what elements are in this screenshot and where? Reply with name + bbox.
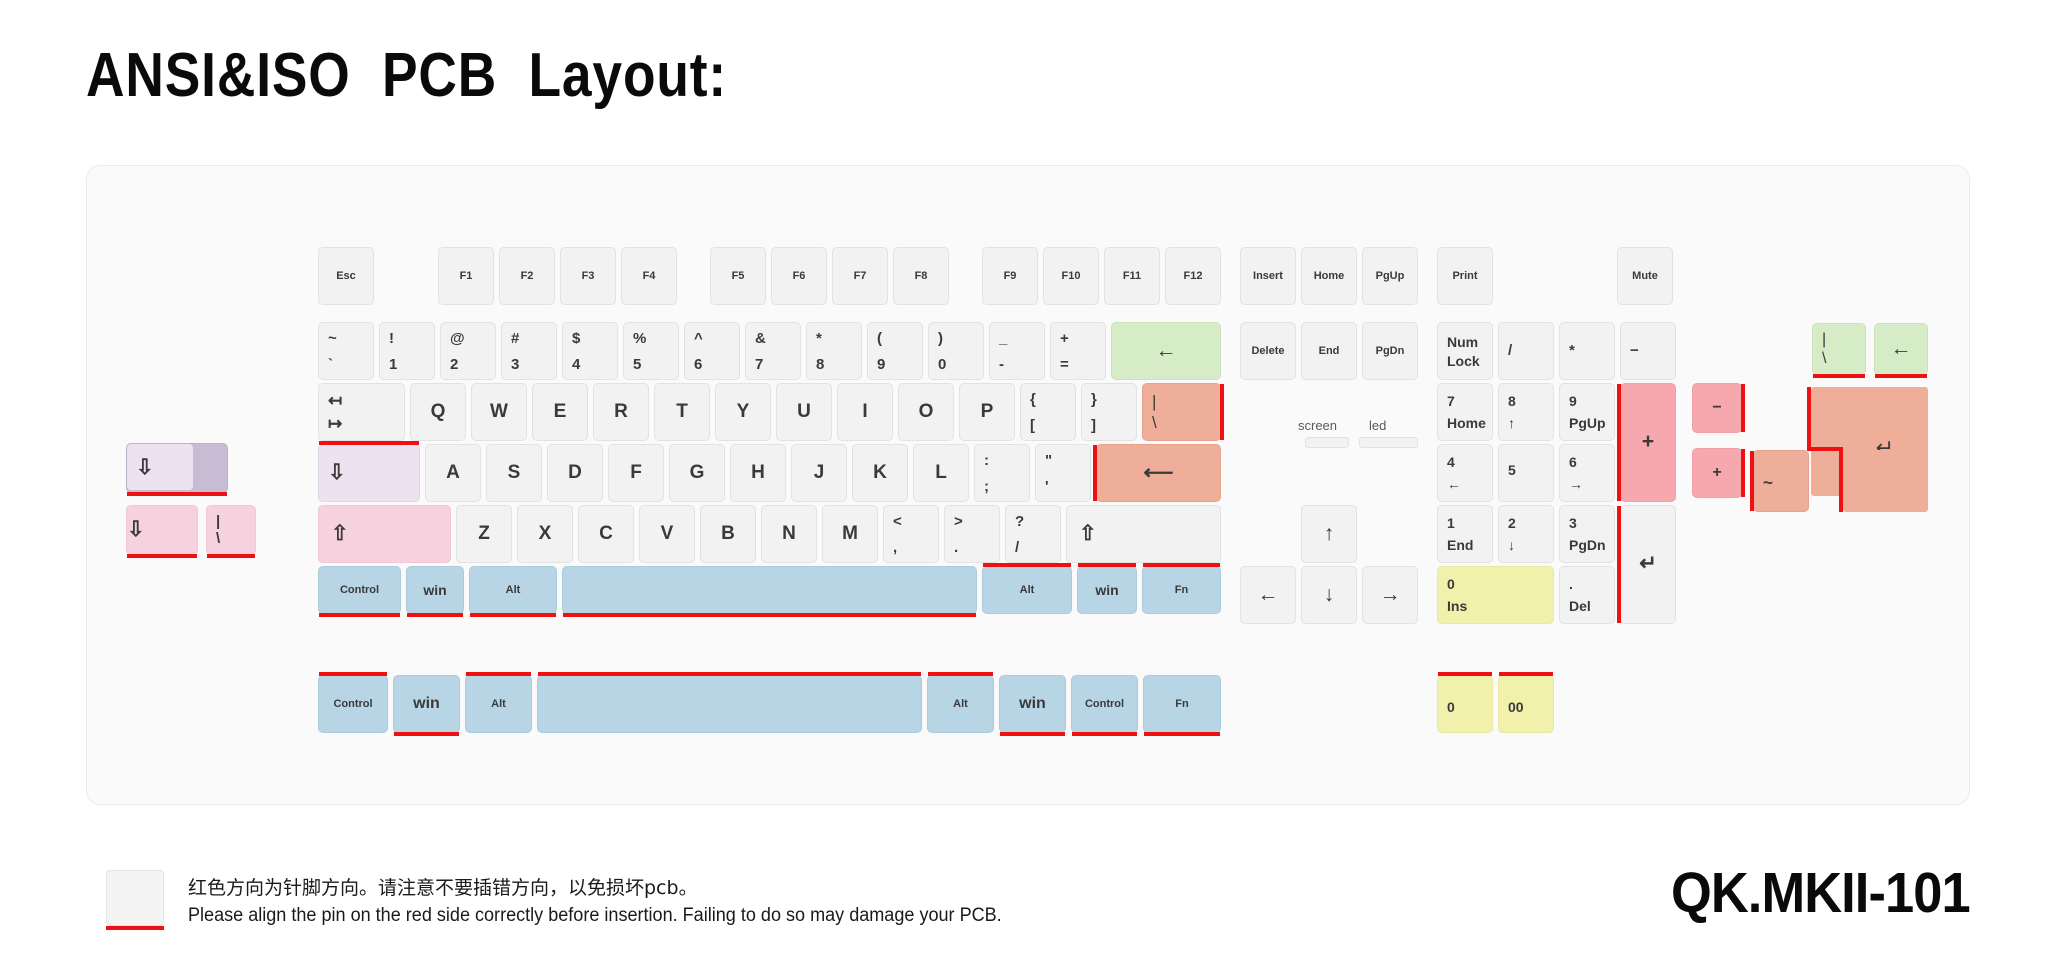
alt-key-left-control[interactable]: Control	[318, 675, 388, 733]
key-m[interactable]: M	[822, 505, 878, 563]
key-label: A	[446, 462, 460, 484]
key-mute[interactable]: Mute	[1617, 247, 1673, 305]
model-name: QK.MKII-101	[1671, 860, 1970, 926]
legend-bottom: ←	[1447, 476, 1492, 492]
key-legend: NumLock	[1438, 334, 1492, 369]
tab-arrows-icon: ↤↦	[319, 391, 404, 434]
legend-top: }	[1091, 391, 1136, 408]
key-numpad-9[interactable]: 9 PgUp	[1559, 383, 1615, 441]
legend-bottom: 7	[755, 356, 800, 373]
legend-top: 4	[1447, 454, 1492, 470]
key-legend: _ -	[990, 330, 1044, 373]
key-a[interactable]: A	[425, 444, 481, 502]
alt-key-caps-stepped[interactable]: ⇩	[126, 443, 228, 493]
legend-bottom: .	[954, 539, 999, 556]
key-numpad-8[interactable]: 8 ↑	[1498, 383, 1554, 441]
legend-bottom: Home	[1447, 415, 1492, 431]
key-t[interactable]: T	[654, 383, 710, 441]
right-shift-icon: ⇧	[1067, 523, 1220, 545]
legend-bottom: ↓	[1508, 537, 1553, 553]
key-legend: 2 ↓	[1499, 515, 1553, 553]
key-legend: . Del	[1560, 576, 1614, 614]
legend-top: 6	[1569, 454, 1614, 470]
key-label: win	[1095, 582, 1118, 598]
key-numpad-7[interactable]: 7 Home	[1437, 383, 1493, 441]
key-f11[interactable]: F11	[1104, 247, 1160, 305]
legend-top: 8	[1508, 393, 1553, 409]
key-label: win	[1019, 695, 1046, 713]
key-label: C	[599, 523, 613, 545]
legend-bottom: '	[1045, 478, 1090, 495]
numpad-enter-icon: ↵	[1639, 553, 1657, 575]
key-left-win[interactable]: win	[406, 566, 464, 614]
key-label: Q	[431, 401, 446, 423]
key-enter[interactable]: ⟵	[1096, 444, 1221, 502]
key-u[interactable]: U	[776, 383, 832, 441]
key-y[interactable]: Y	[715, 383, 771, 441]
legend-top: ?	[1015, 513, 1060, 530]
legend-bottom: PgUp	[1569, 415, 1614, 431]
key-d[interactable]: D	[547, 444, 603, 502]
key-w[interactable]: W	[471, 383, 527, 441]
alt-shift-icon: ⇩	[127, 519, 145, 541]
key-6[interactable]: ^ 6	[684, 322, 740, 380]
led-indicator-bar	[1359, 437, 1418, 448]
key-grave[interactable]: ~ `	[318, 322, 374, 380]
key-numpad-6[interactable]: 6 →	[1559, 444, 1615, 502]
key-q[interactable]: Q	[410, 383, 466, 441]
key-bracket-right[interactable]: } ]	[1081, 383, 1137, 441]
key-numpad-decimal[interactable]: . Del	[1559, 566, 1615, 624]
key-f10[interactable]: F10	[1043, 247, 1099, 305]
legend-top: 1	[1447, 515, 1492, 531]
key-legend: : ;	[975, 452, 1029, 495]
legend-top: 3	[1569, 515, 1614, 531]
key-label: E	[554, 401, 567, 423]
key-f12[interactable]: F12	[1165, 247, 1221, 305]
key-label: F	[630, 462, 642, 484]
legend-top: )	[938, 330, 983, 347]
key-legend: # 3	[502, 330, 556, 373]
key-label: F2	[521, 270, 534, 283]
key-8[interactable]: * 8	[806, 322, 862, 380]
key-l[interactable]: L	[913, 444, 969, 502]
key-label: Print	[1452, 270, 1477, 283]
key-label: Control	[340, 584, 379, 597]
alt-key-right-alt[interactable]: Alt	[927, 675, 994, 733]
pcb-layout-page: ANSI&ISO PCB Layout: ⇩ ⇩ | \ Esc F1 F2 F…	[0, 0, 2048, 980]
key-legend: ? /	[1006, 513, 1060, 556]
key-arrow-down[interactable]: ↓	[1301, 566, 1357, 624]
key-legend: { [	[1021, 391, 1075, 434]
key-legend: " '	[1036, 452, 1090, 495]
legend-bottom: `	[328, 356, 373, 373]
key-label: win	[413, 695, 440, 713]
iso-key-backslash[interactable]: | \	[1812, 323, 1866, 375]
pgdn-label: PgDn	[1376, 345, 1405, 358]
screen-indicator-bar	[1305, 437, 1349, 448]
legend-top: @	[450, 330, 495, 347]
key-label: B	[721, 523, 735, 545]
key-c[interactable]: C	[578, 505, 634, 563]
key-comma[interactable]: < ,	[883, 505, 939, 563]
arrow-up-icon: ↑	[1324, 523, 1335, 545]
key-label: F3	[582, 270, 595, 283]
key-4[interactable]: $ 4	[562, 322, 618, 380]
legend-top: _	[999, 330, 1044, 347]
key-r[interactable]: R	[593, 383, 649, 441]
legend-bottom: [	[1030, 417, 1075, 434]
key-label: Esc	[336, 270, 356, 283]
key-f3[interactable]: F3	[560, 247, 616, 305]
legend-top: .	[1569, 576, 1614, 592]
legend-bottom: Del	[1569, 598, 1614, 614]
legend-bottom: 5	[633, 356, 678, 373]
arrow-left-icon: ←	[1258, 584, 1279, 606]
key-label: F11	[1123, 270, 1141, 283]
key-label: X	[539, 523, 552, 545]
key-label: Alt	[953, 698, 968, 711]
key-legend: 5	[1499, 462, 1553, 484]
key-label: D	[568, 462, 582, 484]
legend-top: (	[877, 330, 922, 347]
legend-bottom: 9	[877, 356, 922, 373]
key-right-alt[interactable]: Alt	[982, 566, 1072, 614]
key-label: +	[1712, 464, 1721, 482]
key-label: Control	[1085, 698, 1124, 711]
key-9[interactable]: ( 9	[867, 322, 923, 380]
key-label: Alt	[491, 698, 506, 711]
key-numpad-plus[interactable]: +	[1620, 383, 1676, 502]
legend-bottom: Ins	[1447, 598, 1553, 614]
legend-bottom: 0	[938, 356, 983, 373]
key-label: M	[842, 523, 858, 545]
key-x[interactable]: X	[517, 505, 573, 563]
legend-top: ^	[694, 330, 739, 347]
key-equal[interactable]: + =	[1050, 322, 1106, 380]
key-period[interactable]: > .	[944, 505, 1000, 563]
key-f7[interactable]: F7	[832, 247, 888, 305]
key-numpad-enter[interactable]: ↵	[1620, 505, 1676, 624]
key-label: I	[862, 401, 867, 423]
key-label: L	[935, 462, 947, 484]
alt-key-numpad-00[interactable]: 00	[1498, 675, 1554, 733]
legend-bottom: ↑	[1508, 415, 1553, 431]
key-n[interactable]: N	[761, 505, 817, 563]
screen-indicator-label: screen	[1298, 418, 1337, 433]
legend-top: ~	[328, 330, 373, 347]
legend-top: *	[816, 330, 861, 347]
legend-top: {	[1030, 391, 1075, 408]
backspace-arrow-icon: ←	[1891, 338, 1912, 360]
key-numpad-4[interactable]: 4 ←	[1437, 444, 1493, 502]
key-label: Alt	[506, 584, 521, 597]
key-backslash[interactable]: | \	[1142, 383, 1221, 441]
key-f6[interactable]: F6	[771, 247, 827, 305]
page-title: ANSI&ISO PCB Layout:	[86, 40, 727, 111]
key-label: *	[1560, 342, 1614, 359]
key-label: T	[676, 401, 688, 423]
key-h[interactable]: H	[730, 444, 786, 502]
key-slash[interactable]: ? /	[1005, 505, 1061, 563]
key-quote[interactable]: " '	[1035, 444, 1091, 502]
alt-key-shift[interactable]: ⇩	[126, 505, 198, 555]
alt-key-right-control[interactable]: Control	[1071, 675, 1138, 733]
key-f[interactable]: F	[608, 444, 664, 502]
legend-bottom: -	[999, 356, 1044, 373]
key-label: +	[1642, 431, 1654, 453]
key-label: Insert	[1253, 270, 1283, 283]
key-label: F1	[460, 270, 473, 283]
key-label: −	[1712, 399, 1721, 417]
key-legend: ~ `	[319, 330, 373, 373]
alt-key-backslash[interactable]: | \	[206, 505, 256, 555]
iso-key-tilde[interactable]: ~	[1753, 450, 1809, 512]
key-label: Alt	[1020, 584, 1035, 597]
key-label: Mute	[1632, 270, 1658, 283]
key-legend: @ 2	[441, 330, 495, 373]
key-legend: } ]	[1082, 391, 1136, 434]
alt-key-numpad-plus[interactable]: +	[1692, 448, 1742, 498]
iso-enter-pin-edge-step	[1807, 447, 1843, 451]
key-label: F8	[915, 270, 928, 283]
key-i[interactable]: I	[837, 383, 893, 441]
key-legend: 6 →	[1560, 454, 1614, 492]
iso-enter-pin-edge-lower	[1839, 447, 1843, 512]
key-label: F5	[732, 270, 745, 283]
key-spacebar[interactable]	[562, 566, 977, 614]
key-numpad-2[interactable]: 2 ↓	[1498, 505, 1554, 563]
key-fn[interactable]: Fn	[1142, 566, 1221, 614]
key-label: Control	[333, 698, 372, 711]
legend-bottom: 2	[450, 356, 495, 373]
key-f1[interactable]: F1	[438, 247, 494, 305]
key-label: H	[751, 462, 765, 484]
legend-top: +	[1060, 330, 1105, 347]
legend-top: 0	[1447, 576, 1553, 592]
key-label: F7	[854, 270, 867, 283]
key-numpad-1[interactable]: 1 End	[1437, 505, 1493, 563]
key-legend: < ,	[884, 513, 938, 556]
key-0[interactable]: ) 0	[928, 322, 984, 380]
legend-bottom: End	[1447, 537, 1492, 553]
key-j[interactable]: J	[791, 444, 847, 502]
key-label: F6	[793, 270, 806, 283]
key-label: F4	[643, 270, 656, 283]
key-numpad-5[interactable]: 5	[1498, 444, 1554, 502]
key-label: U	[797, 401, 811, 423]
iso-key-enter-stem[interactable]	[1843, 450, 1928, 512]
key-label: O	[919, 401, 934, 423]
key-label: 0	[1438, 693, 1455, 715]
legend-bottom: →	[1569, 476, 1614, 492]
key-legend: | \	[1143, 392, 1220, 433]
key-s[interactable]: S	[486, 444, 542, 502]
legend-top: 7	[1447, 393, 1492, 409]
key-label: Home	[1314, 270, 1345, 283]
key-2[interactable]: @ 2	[440, 322, 496, 380]
legend-top: &	[755, 330, 800, 347]
legend-bottom: \	[1152, 413, 1220, 433]
key-e[interactable]: E	[532, 383, 588, 441]
key-numpad-0[interactable]: 0 Ins	[1437, 566, 1554, 624]
arrow-right-icon: →	[1380, 584, 1401, 606]
key-legend: ( 9	[868, 330, 922, 373]
led-indicator-label: led	[1369, 418, 1386, 433]
caps-lock-icon: ⇩	[319, 462, 419, 484]
key-legend: & 7	[746, 330, 800, 373]
key-right-win[interactable]: win	[1077, 566, 1137, 614]
key-num-lock[interactable]: NumLock	[1437, 322, 1493, 380]
key-print[interactable]: Print	[1437, 247, 1493, 305]
key-arrow-right[interactable]: →	[1362, 566, 1418, 624]
arrow-down-icon: ↓	[1324, 584, 1335, 606]
key-numpad-multiply[interactable]: *	[1559, 322, 1615, 380]
key-7[interactable]: & 7	[745, 322, 801, 380]
legend-top: <	[893, 513, 938, 530]
key-esc[interactable]: Esc	[318, 247, 374, 305]
alt-key-left-alt[interactable]: Alt	[465, 675, 532, 733]
legend-bottom: ,	[893, 539, 938, 556]
key-f4[interactable]: F4	[621, 247, 677, 305]
key-o[interactable]: O	[898, 383, 954, 441]
legend-top: "	[1045, 452, 1090, 469]
alt-backslash-legend: | \	[207, 513, 255, 547]
key-label: K	[873, 462, 887, 484]
key-tab[interactable]: ↤↦	[318, 383, 405, 441]
key-legend: ) 0	[929, 330, 983, 373]
legend-bottom: =	[1060, 356, 1105, 373]
key-label: 00	[1499, 693, 1524, 715]
key-label: Y	[737, 401, 750, 423]
backspace-arrow-icon: ←	[1156, 340, 1177, 362]
key-arrow-left[interactable]: ←	[1240, 566, 1296, 624]
key-label: Z	[478, 523, 490, 545]
key-f2[interactable]: F2	[499, 247, 555, 305]
key-caps-lock[interactable]: ⇩	[318, 444, 420, 502]
key-z[interactable]: Z	[456, 505, 512, 563]
key-label: R	[614, 401, 628, 423]
key-label: PgUp	[1376, 270, 1405, 283]
alt-key-right-win[interactable]: win	[999, 675, 1066, 733]
alt-key-numpad-0[interactable]: 0	[1437, 675, 1493, 733]
key-home[interactable]: Home	[1301, 247, 1357, 305]
key-label: F12	[1184, 270, 1203, 283]
enter-arrow-icon: ⟵	[1143, 462, 1173, 484]
legend-top: #	[511, 330, 556, 347]
legend-top: >	[954, 513, 999, 530]
legend-top: $	[572, 330, 617, 347]
key-label: Fn	[1175, 698, 1188, 711]
key-label: P	[981, 401, 994, 423]
key-label: W	[490, 401, 508, 423]
key-left-alt[interactable]: Alt	[469, 566, 557, 614]
key-legend: > .	[945, 513, 999, 556]
key-legend: 0 Ins	[1438, 576, 1553, 614]
key-legend: 8 ↑	[1499, 393, 1553, 431]
alt-key-numpad-minus[interactable]: −	[1692, 383, 1742, 433]
key-5[interactable]: % 5	[623, 322, 679, 380]
key-legend: 3 PgDn	[1560, 515, 1614, 553]
key-legend: + =	[1051, 330, 1105, 373]
key-minus[interactable]: _ -	[989, 322, 1045, 380]
key-label: N	[782, 523, 796, 545]
key-label: Fn	[1175, 584, 1188, 597]
legend-top: |	[1152, 392, 1220, 412]
key-numpad-3[interactable]: 3 PgDn	[1559, 505, 1615, 563]
key-legend: * 8	[807, 330, 861, 373]
key-pgdn[interactable]: PgDn	[1362, 322, 1418, 380]
key-f9[interactable]: F9	[982, 247, 1038, 305]
alt-key-spacebar[interactable]	[537, 675, 922, 733]
legend-bottom: 4	[572, 356, 617, 373]
key-arrow-up[interactable]: ↑	[1301, 505, 1357, 563]
key-legend: 9 PgUp	[1560, 393, 1614, 431]
delete-label: Delete	[1251, 345, 1284, 358]
key-label: F10	[1062, 270, 1081, 283]
alt-key-left-win[interactable]: win	[393, 675, 460, 733]
key-legend: $ 4	[563, 330, 617, 373]
key-1[interactable]: ! 1	[379, 322, 435, 380]
key-numpad-minus[interactable]: −	[1620, 322, 1676, 380]
key-b[interactable]: B	[700, 505, 756, 563]
key-k[interactable]: K	[852, 444, 908, 502]
key-numpad-divide[interactable]: /	[1498, 322, 1554, 380]
legend-bottom: ]	[1091, 417, 1136, 434]
key-3[interactable]: # 3	[501, 322, 557, 380]
key-legend: ^ 6	[685, 330, 739, 373]
legend-bottom: 1	[389, 356, 434, 373]
pin-direction-swatch	[106, 870, 164, 926]
legend-bottom: 6	[694, 356, 739, 373]
key-f5[interactable]: F5	[710, 247, 766, 305]
key-end[interactable]: End	[1301, 322, 1357, 380]
key-p[interactable]: P	[959, 383, 1015, 441]
key-legend: 1 End	[1438, 515, 1492, 553]
legend-top: !	[389, 330, 434, 347]
key-legend: % 5	[624, 330, 678, 373]
iso-enter-pin-edge	[1807, 387, 1811, 450]
key-insert[interactable]: Insert	[1240, 247, 1296, 305]
key-right-shift[interactable]: ⇧	[1066, 505, 1221, 563]
key-backspace[interactable]: ←	[1111, 322, 1221, 380]
key-legend: | \	[1813, 331, 1865, 368]
legend-bottom: 3	[511, 356, 556, 373]
key-left-shift[interactable]: ⇧	[318, 505, 451, 563]
legend-bottom: /	[1015, 539, 1060, 556]
key-delete[interactable]: Insert Delete	[1240, 322, 1296, 380]
key-label: G	[690, 462, 705, 484]
alt-key-fn[interactable]: Fn	[1143, 675, 1221, 733]
key-g[interactable]: G	[669, 444, 725, 502]
key-semicolon[interactable]: : ;	[974, 444, 1030, 502]
legend-top: :	[984, 452, 1029, 469]
key-left-control[interactable]: Control	[318, 566, 401, 614]
key-label: J	[814, 462, 825, 484]
legend-top: 5	[1508, 462, 1553, 478]
key-label: F9	[1004, 270, 1017, 283]
legend-top: %	[633, 330, 678, 347]
key-label: S	[508, 462, 521, 484]
key-label: /	[1499, 342, 1553, 359]
key-v[interactable]: V	[639, 505, 695, 563]
iso-key-backspace[interactable]: ←	[1874, 323, 1928, 375]
key-bracket-left[interactable]: { [	[1020, 383, 1076, 441]
alt-caps-icon: ⇩	[127, 457, 227, 479]
key-pgup[interactable]: PgUp	[1362, 247, 1418, 305]
footer-note-cn: 红色方向为针脚方向。请注意不要插错方向，以免损坏pcb。	[188, 873, 698, 900]
key-f8[interactable]: F8	[893, 247, 949, 305]
